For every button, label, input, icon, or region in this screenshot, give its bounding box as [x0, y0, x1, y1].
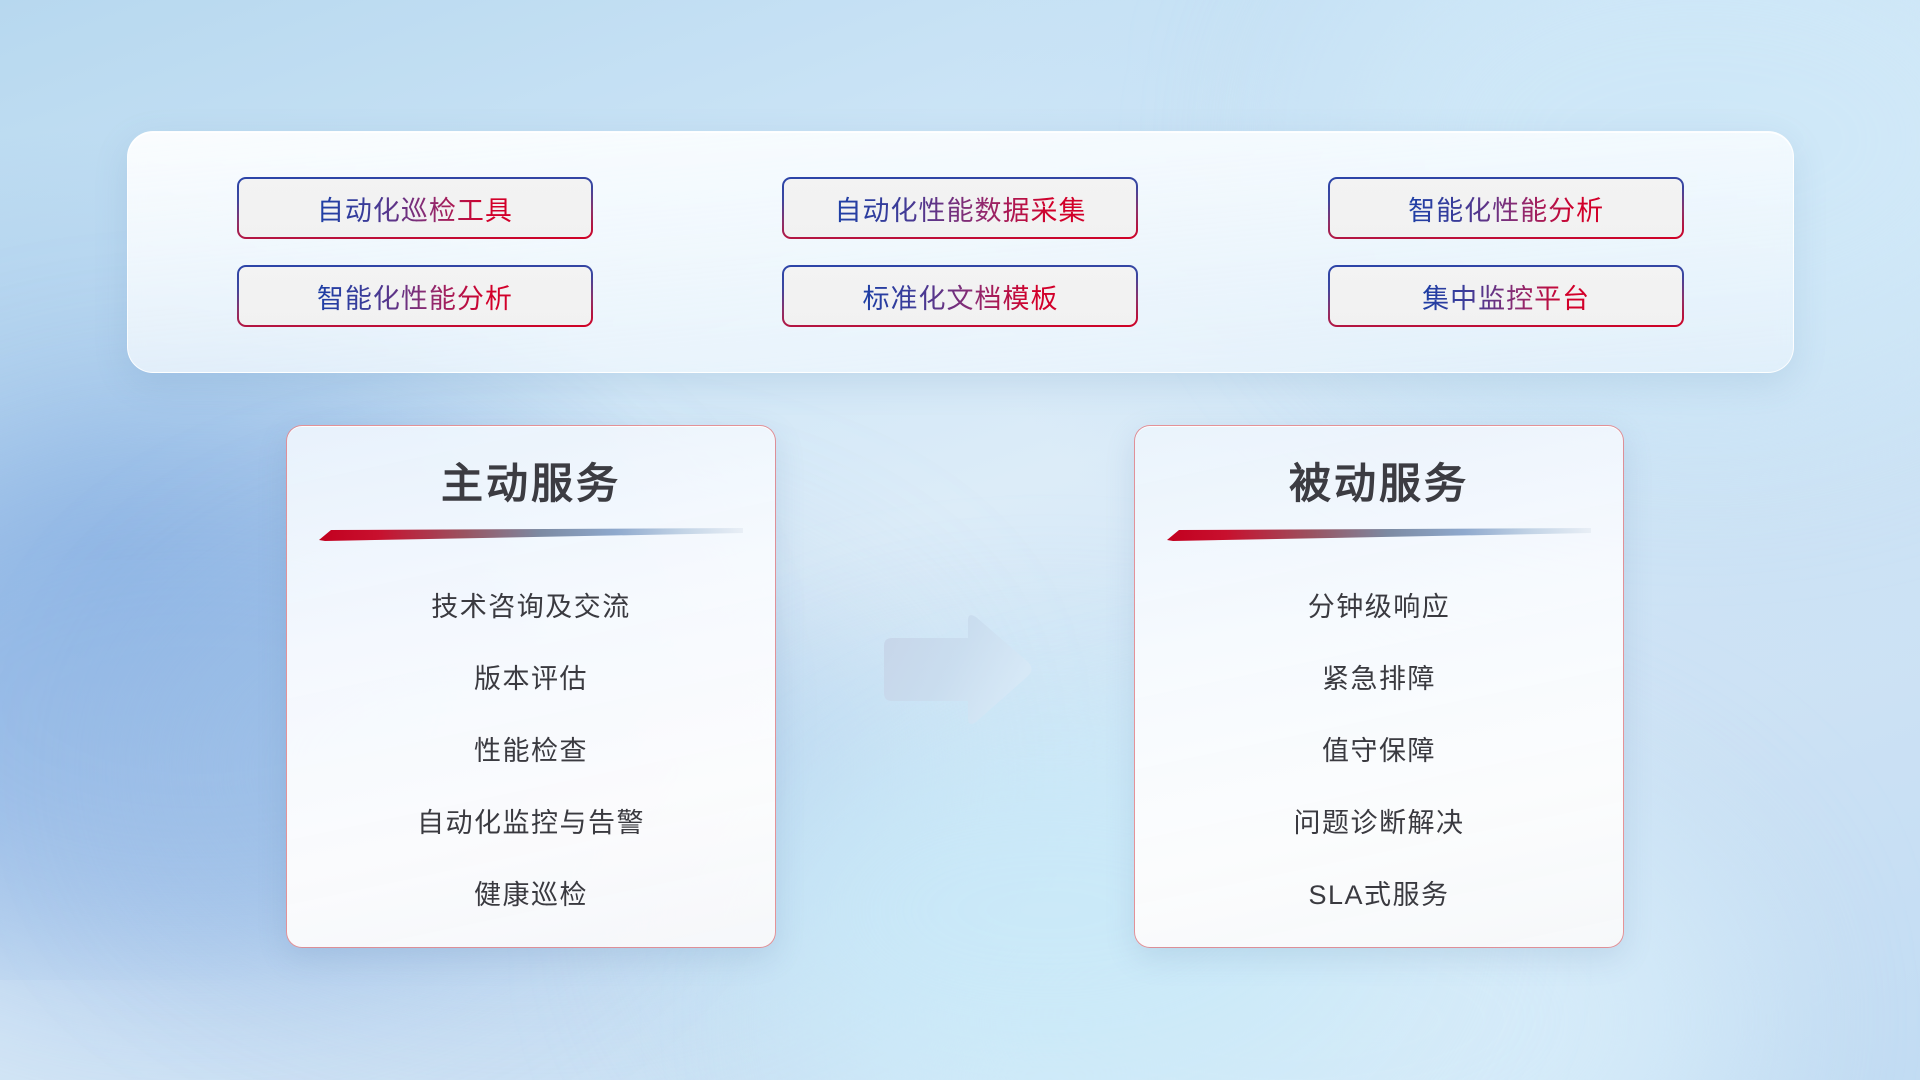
- arrow-right-icon: [876, 612, 1036, 728]
- capability-row-1: 自动化巡检工具 自动化性能数据采集 智能化性能分析: [156, 177, 1765, 239]
- capability-chip-label: 智能化性能分析: [1408, 189, 1604, 228]
- capability-chip[interactable]: 智能化性能分析: [1328, 177, 1684, 239]
- capability-chip-label: 自动化性能数据采集: [834, 189, 1086, 228]
- service-card-proactive: 主动服务 技术咨询及交流 版本评估: [286, 425, 776, 948]
- service-card-reactive: 被动服务 分钟级响应 紧急排障: [1134, 425, 1624, 948]
- capability-chip-label: 标准化文档模板: [862, 277, 1058, 316]
- title-divider: [319, 528, 743, 542]
- capability-chip[interactable]: 标准化文档模板: [782, 265, 1138, 327]
- capability-chip[interactable]: 智能化性能分析: [237, 265, 593, 327]
- capability-chip[interactable]: 自动化性能数据采集: [782, 177, 1138, 239]
- capability-chip[interactable]: 集中监控平台: [1328, 265, 1684, 327]
- slide-canvas: 自动化巡检工具 自动化性能数据采集 智能化性能分析 智能化性能分析 标准化文档模…: [0, 0, 1920, 1080]
- service-list-item: 健康巡检: [474, 856, 588, 928]
- service-list-item: 分钟级响应: [1308, 568, 1451, 640]
- capability-chip-label: 自动化巡检工具: [317, 189, 513, 228]
- service-list-item: 值守保障: [1322, 712, 1436, 784]
- service-card-title: 被动服务: [1289, 460, 1469, 508]
- service-list-item: 紧急排障: [1322, 640, 1436, 712]
- service-list-item: 问题诊断解决: [1294, 784, 1465, 856]
- capability-panel: 自动化巡检工具 自动化性能数据采集 智能化性能分析 智能化性能分析 标准化文档模…: [127, 131, 1794, 373]
- service-card-title: 主动服务: [441, 460, 621, 508]
- service-list-item: SLA式服务: [1308, 856, 1449, 928]
- service-list-item: 技术咨询及交流: [431, 568, 631, 640]
- capability-chip-label: 集中监控平台: [1422, 277, 1590, 316]
- service-item-list: 技术咨询及交流 版本评估 性能检查 自动化监控与告警 健康巡检: [287, 568, 775, 928]
- service-item-list: 分钟级响应 紧急排障 值守保障 问题诊断解决 SLA式服务: [1135, 568, 1623, 928]
- service-list-item: 自动化监控与告警: [417, 784, 645, 856]
- service-list-item: 版本评估: [474, 640, 588, 712]
- capability-chip[interactable]: 自动化巡检工具: [237, 177, 593, 239]
- capability-row-2: 智能化性能分析 标准化文档模板 集中监控平台: [156, 265, 1765, 327]
- capability-chip-label: 智能化性能分析: [317, 277, 513, 316]
- service-list-item: 性能检查: [474, 712, 588, 784]
- title-divider: [1167, 528, 1591, 542]
